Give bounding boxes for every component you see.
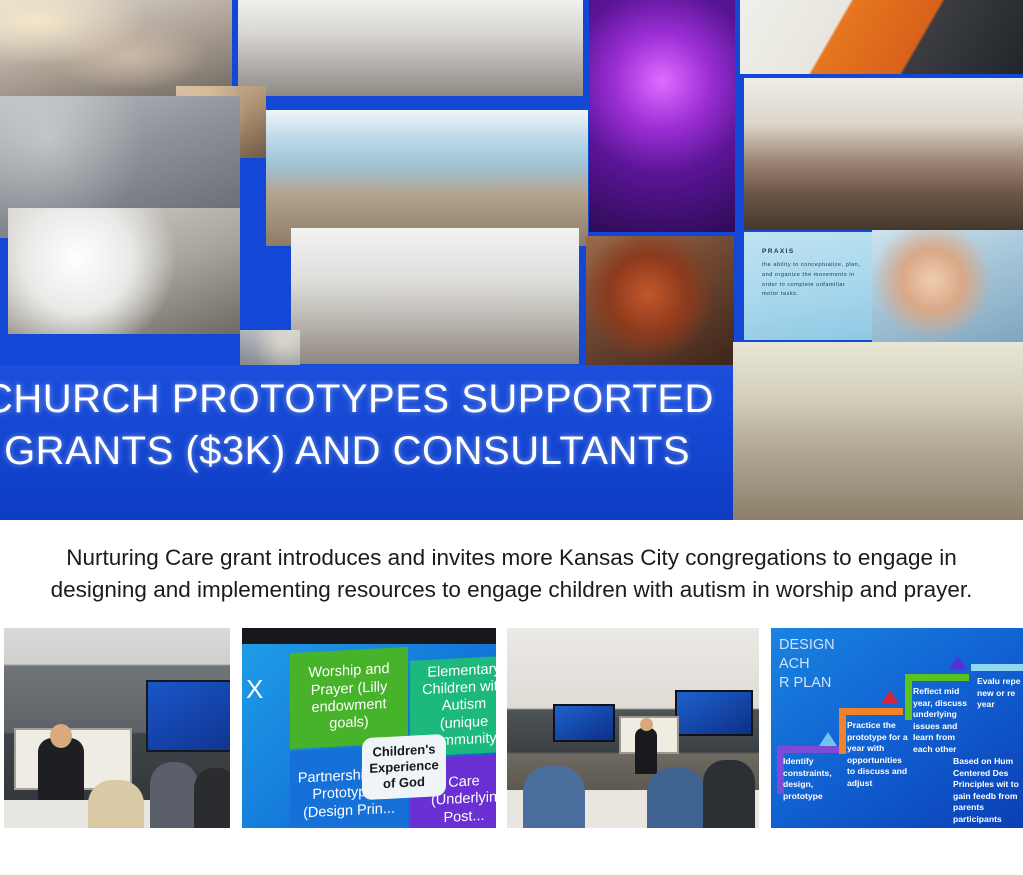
step-bar-1 [777,746,839,753]
slide-title: DESIGN ACH R PLAN [779,636,835,693]
caption-block: Nurturing Care grant introduces and invi… [0,524,1023,624]
attendee [703,760,755,828]
slide-page: PRAXIS the ability to conceptualize, pla… [0,0,1023,875]
footnote-human-centered-design: Based on Hum Centered Des Principles wit… [953,756,1023,825]
attendee [88,780,144,828]
step-label-evaluate-repeat: Evalu repe new or re year [977,676,1023,711]
step-label-reflect-mid-year: Reflect mid year, discuss underlying iss… [913,686,973,755]
attendee [647,768,705,828]
praxis-title: PRAXIS [762,248,864,255]
step-arrow-1-icon [819,732,837,746]
photo-neon-light-arch-performer [589,0,735,232]
step-bar-2-riser [839,708,846,754]
step-bar-2 [839,708,903,715]
photo-commercial-kitchen-training [291,228,579,364]
speaker-head [50,724,72,748]
step-label-practice-prototype: Practice the prototype for a year with o… [847,720,909,789]
thumb-conference-room-presentation[interactable] [507,628,759,828]
thumb-speaker-training-room[interactable] [4,628,230,828]
speaker-body [635,728,657,774]
speaker-head [640,718,653,731]
headline-line-1: CHURCH PROTOTYPES SUPPORTED [0,377,714,422]
photo-woman-at-whiteboard-closeup [8,208,240,334]
photo-boy-blue-headphones [586,236,734,366]
photo-church-lobby-families [0,0,232,100]
attendee [150,762,198,828]
thumbnail-row: X Worship and Prayer (Lilly endowment go… [0,628,1023,828]
step-bar-3 [905,674,969,681]
center-label-childrens-experience-of-god: Children's Experience of God [362,734,446,800]
wall-screen [146,680,230,752]
edge-letter: X [246,674,263,705]
attendee [194,768,230,828]
photo-child-with-abacus [872,230,1023,342]
photo-living-room-family-session [733,342,1023,520]
photo-brick-room-conference-table [744,78,1023,230]
wall-screen-left [553,704,615,742]
praxis-body: the ability to conceptualize, plan, and … [762,261,864,300]
praxis-text-block: PRAXIS the ability to conceptualize, pla… [752,240,872,336]
photo-children-reading-floor-cushion [238,0,583,96]
screen-bezel [242,628,496,644]
quadrant-worship-prayer: Worship and Prayer (Lilly endowment goal… [290,647,408,749]
thumb-design-approach-plan-slide[interactable]: DESIGN ACH R PLAN Identify constraints, … [771,628,1023,828]
wall-screen-right [675,690,753,736]
step-arrow-3-icon [949,656,967,670]
step-arrow-2-icon [881,690,899,704]
headline-line-2: Y GRANTS ($3K) AND CONSULTANTS [0,429,690,474]
photo-congregation-orange-wall-speaker [740,0,1023,74]
caption-line-2: designing and implementing resources to … [51,574,973,606]
attendee [523,766,585,828]
step-label-identify-constraints: Identify constraints, design, prototype [783,756,843,802]
step-bar-4 [971,664,1023,671]
thumb-quadrant-slide[interactable]: X Worship and Prayer (Lilly endowment go… [242,628,496,828]
photo-sensory-room-blue-wall [266,110,588,246]
headline-banner: CHURCH PROTOTYPES SUPPORTED Y GRANTS ($3… [0,365,733,520]
photo-collage: PRAXIS the ability to conceptualize, pla… [0,0,1023,520]
step-bar-3-riser [905,674,912,720]
caption-line-1: Nurturing Care grant introduces and invi… [66,542,957,574]
